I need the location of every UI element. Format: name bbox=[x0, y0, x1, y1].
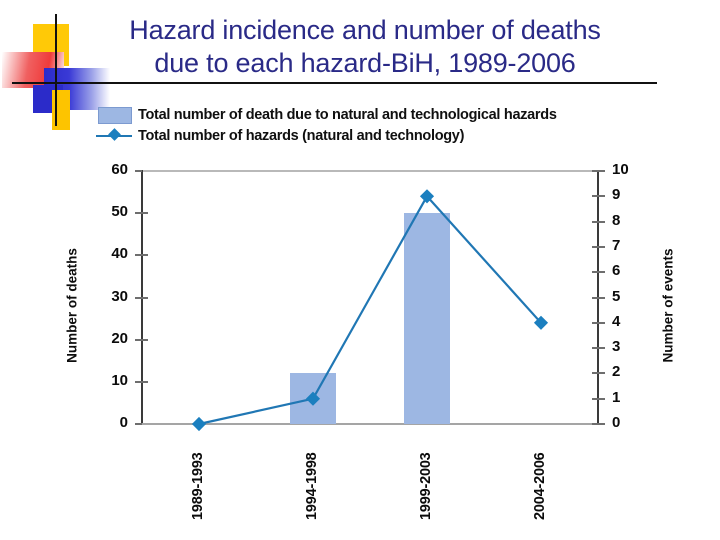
line-series bbox=[0, 0, 720, 540]
chart-plot: Number of deaths Number of events 605040… bbox=[0, 0, 720, 540]
line-path-hazards bbox=[199, 196, 541, 424]
line-marker-1994-1998 bbox=[306, 392, 320, 406]
line-marker-1989-1993 bbox=[192, 417, 206, 431]
